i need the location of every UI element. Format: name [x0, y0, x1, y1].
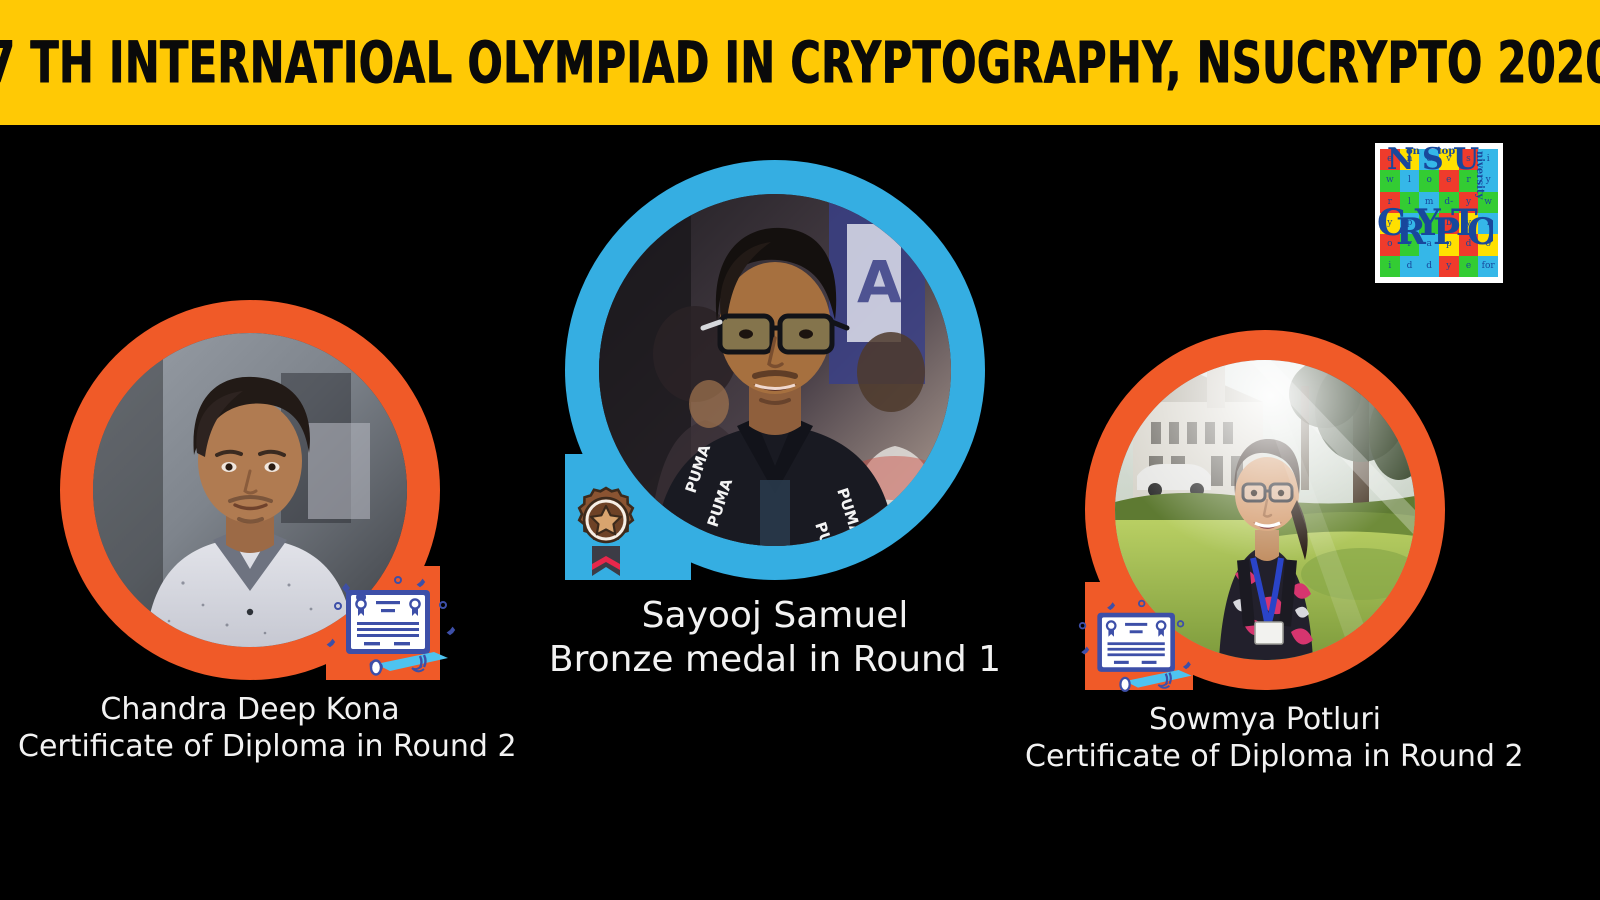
nsucrypto-grid-cell: r: [1380, 192, 1400, 213]
nsucrypto-grid-cell: i: [1478, 213, 1498, 234]
nsucrypto-grid-cell: b: [1439, 213, 1459, 234]
nsucrypto-grid-cell: r: [1400, 234, 1420, 255]
member-award: Bronze medal in Round 1: [505, 638, 1045, 682]
member-award: Certificate of Diploma in Round 2: [1025, 739, 1505, 776]
nsucrypto-letter-grid: enovsiwloeryrlmd-ywyptbyiorapdoiddyefor: [1380, 149, 1498, 277]
nsucrypto-grid-cell: n: [1400, 149, 1420, 170]
member-name: Chandra Deep Kona: [18, 692, 482, 729]
avatar-ring: [1085, 330, 1445, 690]
nsucrypto-grid-cell: d: [1419, 256, 1439, 277]
nsucrypto-grid-cell: o: [1380, 234, 1400, 255]
certificate-icon: [324, 572, 456, 684]
nsucrypto-grid-cell: d-: [1439, 192, 1459, 213]
nsucrypto-logo: enovsiwloeryrlmd-ywyptbyiorapdoiddyefor …: [1375, 143, 1503, 283]
nsucrypto-grid-cell: y: [1478, 170, 1498, 191]
page-title: 7 TH INTERNATIOAL OLYMPIAD IN CRYPTOGRAP…: [0, 29, 1600, 97]
nsucrypto-grid-cell: r: [1459, 170, 1479, 191]
nsucrypto-grid-cell: e: [1380, 149, 1400, 170]
nsucrypto-grid-cell: y: [1459, 213, 1479, 234]
nsucrypto-grid-cell: for: [1478, 256, 1498, 277]
bronze-medal-icon: [563, 484, 649, 582]
nsucrypto-grid-cell: y: [1380, 213, 1400, 234]
nsucrypto-grid-cell: i: [1478, 149, 1498, 170]
nsucrypto-grid-cell: o: [1478, 234, 1498, 255]
nsucrypto-grid-cell: d: [1459, 234, 1479, 255]
nsucrypto-grid-cell: p: [1400, 213, 1420, 234]
member-card-chandra-deep-kona: Chandra Deep Kona Certificate of Diploma…: [60, 300, 440, 680]
nsucrypto-grid-cell: l: [1400, 170, 1420, 191]
nsucrypto-grid-cell: a: [1419, 234, 1439, 255]
certificate-icon: [1077, 596, 1199, 700]
nsucrypto-grid-cell: e: [1459, 256, 1479, 277]
title-banner: 7 TH INTERNATIOAL OLYMPIAD IN CRYPTOGRAP…: [0, 0, 1600, 125]
avatar-ring: [60, 300, 440, 680]
nsucrypto-grid-cell: o: [1419, 149, 1439, 170]
nsucrypto-grid-cell: o: [1419, 170, 1439, 191]
nsucrypto-grid-cell: p: [1439, 234, 1459, 255]
nsucrypto-grid-cell: l: [1400, 192, 1420, 213]
nsucrypto-grid-cell: w: [1380, 170, 1400, 191]
nsucrypto-grid-cell: y: [1459, 192, 1479, 213]
nsucrypto-grid-cell: m: [1419, 192, 1439, 213]
nsucrypto-grid-cell: d: [1400, 256, 1420, 277]
member-caption: Sayooj Samuel Bronze medal in Round 1: [505, 594, 1045, 682]
avatar-photo-sayooj: A PUMA PUMA PUMA PUM: [599, 194, 951, 546]
nsucrypto-grid-cell: v: [1439, 149, 1459, 170]
nsucrypto-grid-cell: i: [1380, 256, 1400, 277]
member-name: Sowmya Potluri: [1025, 702, 1505, 739]
nsucrypto-grid-cell: y: [1439, 256, 1459, 277]
poster-root: 7 TH INTERNATIOAL OLYMPIAD IN CRYPTOGRAP…: [0, 0, 1600, 900]
svg-text:A: A: [857, 248, 902, 316]
member-caption: Chandra Deep Kona Certificate of Diploma…: [18, 692, 482, 765]
nsucrypto-grid-cell: s: [1459, 149, 1479, 170]
member-card-sayooj-samuel: A PUMA PUMA PUMA PUM: [565, 160, 985, 580]
member-name: Sayooj Samuel: [505, 594, 1045, 638]
nsucrypto-grid-cell: e: [1439, 170, 1459, 191]
avatar: A PUMA PUMA PUMA PUM: [599, 194, 951, 546]
nsucrypto-grid-cell: w: [1478, 192, 1498, 213]
avatar-ring: A PUMA PUMA PUMA PUM: [565, 160, 985, 580]
member-caption: Sowmya Potluri Certificate of Diploma in…: [1025, 702, 1505, 775]
nsucrypto-grid-cell: t: [1419, 213, 1439, 234]
member-card-sowmya-potluri: Sowmya Potluri Certificate of Diploma in…: [1085, 330, 1445, 690]
footer-logos: b 0s मातृ देवो भव: [0, 775, 1600, 880]
member-award: Certificate of Diploma in Round 2: [18, 729, 482, 766]
